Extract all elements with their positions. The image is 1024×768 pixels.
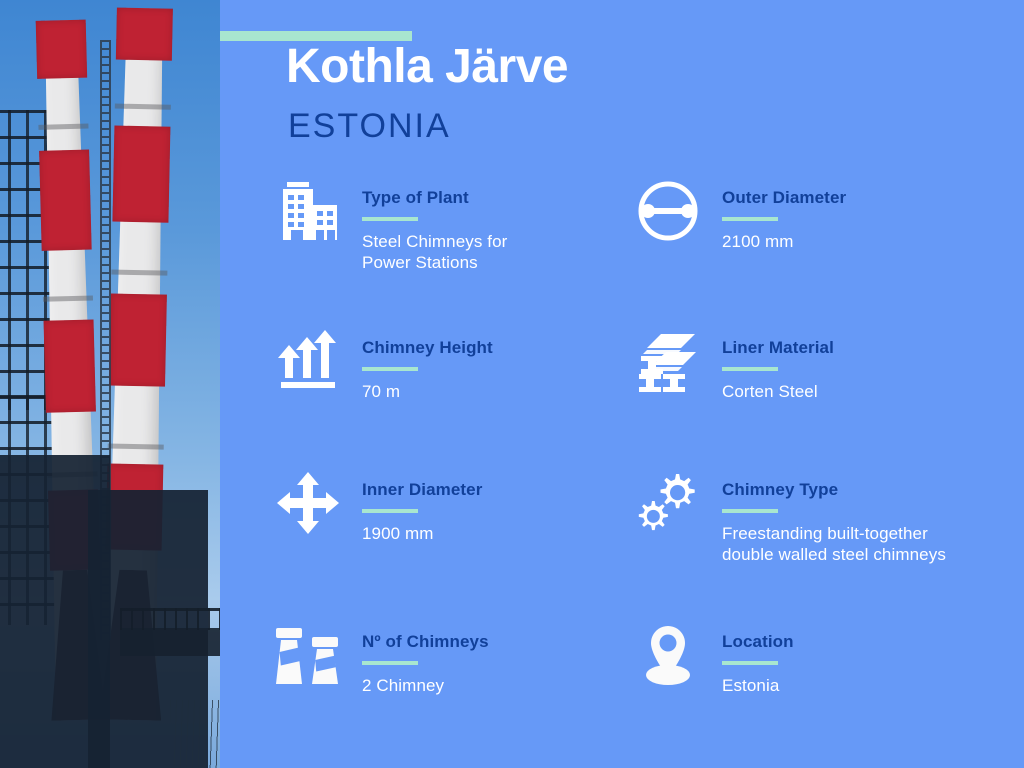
spec-value: Corten Steel <box>722 381 834 403</box>
building-icon <box>272 175 344 247</box>
walkway-bridge <box>120 628 220 656</box>
spec-text: Nº of Chimneys 2 Chimney <box>362 619 489 696</box>
move-arrows-icon <box>272 467 344 539</box>
spec-text: Liner Material Corten Steel <box>722 325 834 402</box>
spec-item-location: Location Estonia <box>632 619 992 739</box>
label-underline <box>722 509 778 513</box>
label-underline <box>722 217 778 221</box>
spec-item-outer-diameter: Outer Diameter 2100 mm <box>632 175 992 325</box>
spec-text: Type of Plant Steel Chimneys for Power S… <box>362 175 507 274</box>
spec-label: Type of Plant <box>362 189 507 208</box>
label-underline <box>362 367 418 371</box>
spec-item-liner-material: Liner Material Corten Steel <box>632 325 992 467</box>
spec-value: Estonia <box>722 675 794 697</box>
page-title: Kothla Järve <box>286 42 568 92</box>
outer-diameter-icon <box>632 175 704 247</box>
spec-label: Inner Diameter <box>362 481 482 500</box>
spec-item-number-of-chimneys: Nº of Chimneys 2 Chimney <box>272 619 632 739</box>
spec-row: Inner Diameter 1900 mm <box>272 467 1012 619</box>
spec-text: Inner Diameter 1900 mm <box>362 467 482 544</box>
label-underline <box>362 509 418 513</box>
steel-stack-icon <box>632 325 704 397</box>
chimneys-icon <box>272 619 344 691</box>
bridge-railing <box>120 608 220 630</box>
chimney-photo <box>0 0 220 768</box>
spec-label: Nº of Chimneys <box>362 633 489 652</box>
gears-icon <box>632 467 704 539</box>
spec-label: Chimney Height <box>362 339 493 358</box>
spec-value: Steel Chimneys for Power Stations <box>362 231 507 275</box>
spec-value: Freestanding built-together double walle… <box>722 523 946 567</box>
spec-row: Type of Plant Steel Chimneys for Power S… <box>272 175 1012 325</box>
spec-label: Chimney Type <box>722 481 946 500</box>
spec-item-type-of-plant: Type of Plant Steel Chimneys for Power S… <box>272 175 632 325</box>
spec-value: 2 Chimney <box>362 675 489 697</box>
spec-text: Chimney Height 70 m <box>362 325 493 402</box>
spec-text: Outer Diameter 2100 mm <box>722 175 846 252</box>
spec-value: 70 m <box>362 381 493 403</box>
spec-item-chimney-type: Chimney Type Freestanding built-together… <box>632 467 992 619</box>
spec-label: Outer Diameter <box>722 189 846 208</box>
label-underline <box>722 661 778 665</box>
label-underline <box>362 661 418 665</box>
page-subtitle: ESTONIA <box>288 108 451 145</box>
spec-text: Chimney Type Freestanding built-together… <box>722 467 946 566</box>
spec-item-inner-diameter: Inner Diameter 1900 mm <box>272 467 632 619</box>
spec-item-chimney-height: Chimney Height 70 m <box>272 325 632 467</box>
spec-value: 1900 mm <box>362 523 482 545</box>
map-pin-icon <box>632 619 704 691</box>
spec-label: Liner Material <box>722 339 834 358</box>
info-panel: Kothla Järve ESTONIA <box>220 0 1024 768</box>
spec-row: Nº of Chimneys 2 Chimney Loca <box>272 619 1012 739</box>
label-underline <box>362 217 418 221</box>
infographic-slide: Kothla Järve ESTONIA <box>0 0 1024 768</box>
label-underline <box>722 367 778 371</box>
tree-line <box>170 700 220 768</box>
spec-label: Location <box>722 633 794 652</box>
spec-value: 2100 mm <box>722 231 846 253</box>
spec-row: Chimney Height 70 m <box>272 325 1012 467</box>
spec-text: Location Estonia <box>722 619 794 696</box>
spec-grid: Type of Plant Steel Chimneys for Power S… <box>272 175 1012 739</box>
height-arrows-icon <box>272 325 344 397</box>
